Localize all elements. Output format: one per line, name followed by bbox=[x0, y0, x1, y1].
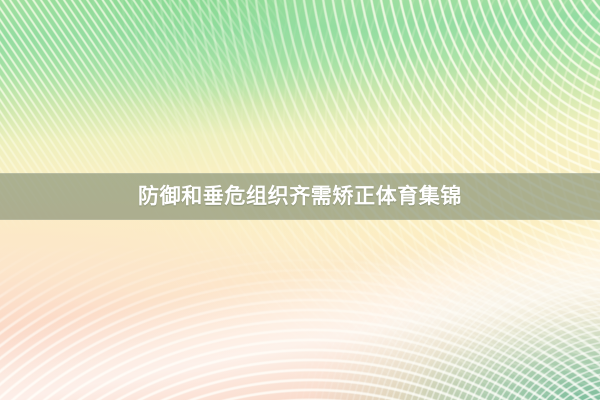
decorative-banner: 防御和垂危组织齐需矫正体育集锦 bbox=[0, 0, 600, 400]
title-band: 防御和垂危组织齐需矫正体育集锦 bbox=[0, 173, 600, 220]
banner-title: 防御和垂危组织齐需矫正体育集锦 bbox=[138, 186, 462, 207]
